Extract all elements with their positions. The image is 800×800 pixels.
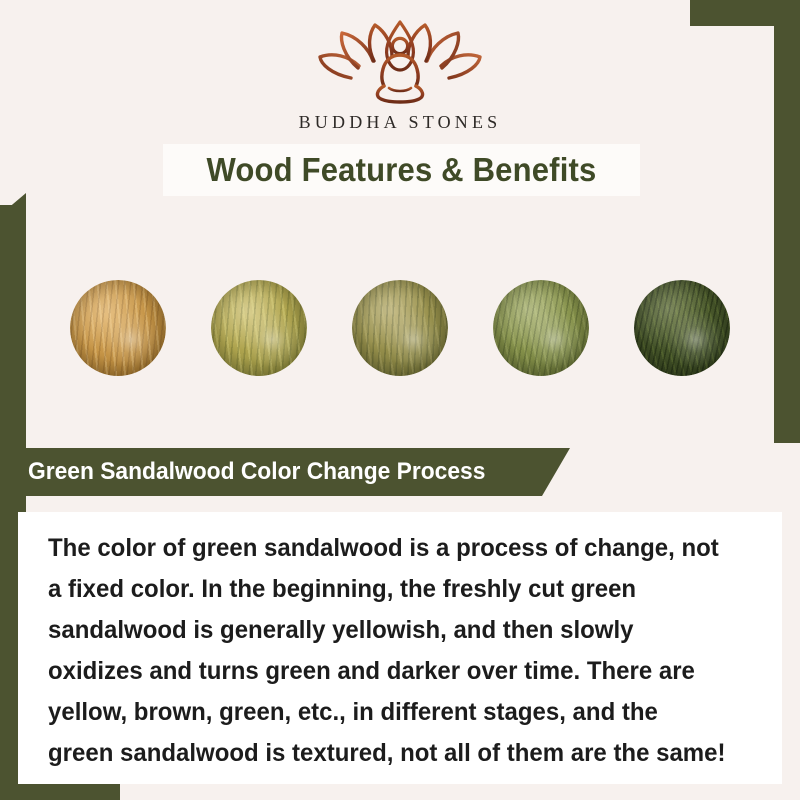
bead-shading — [70, 280, 166, 376]
brand-header: BUDDHA STONES — [0, 16, 800, 146]
bead-color-progression — [0, 253, 800, 403]
bead-stage-4 — [493, 280, 589, 376]
section-banner: Green Sandalwood Color Change Process — [0, 448, 570, 496]
brand-name: BUDDHA STONES — [299, 112, 502, 133]
bead-shading — [352, 280, 448, 376]
bead-shading — [493, 280, 589, 376]
section-body-panel: The color of green sandalwood is a proce… — [18, 512, 782, 784]
bead-stage-2 — [211, 280, 307, 376]
page-title: Wood Features & Benefits — [206, 151, 596, 189]
bead-stage-5 — [634, 280, 730, 376]
bead-stage-1 — [70, 280, 166, 376]
bead-shading — [211, 280, 307, 376]
bead-stage-3 — [352, 280, 448, 376]
page-title-band: Wood Features & Benefits — [163, 144, 640, 196]
section-body-text: The color of green sandalwood is a proce… — [48, 528, 726, 774]
section-banner-title: Green Sandalwood Color Change Process — [28, 458, 485, 486]
infographic-canvas: BUDDHA STONES Wood Features & Benefits G… — [0, 0, 800, 800]
bead-shading — [634, 280, 730, 376]
lotus-meditation-icon — [311, 16, 489, 108]
